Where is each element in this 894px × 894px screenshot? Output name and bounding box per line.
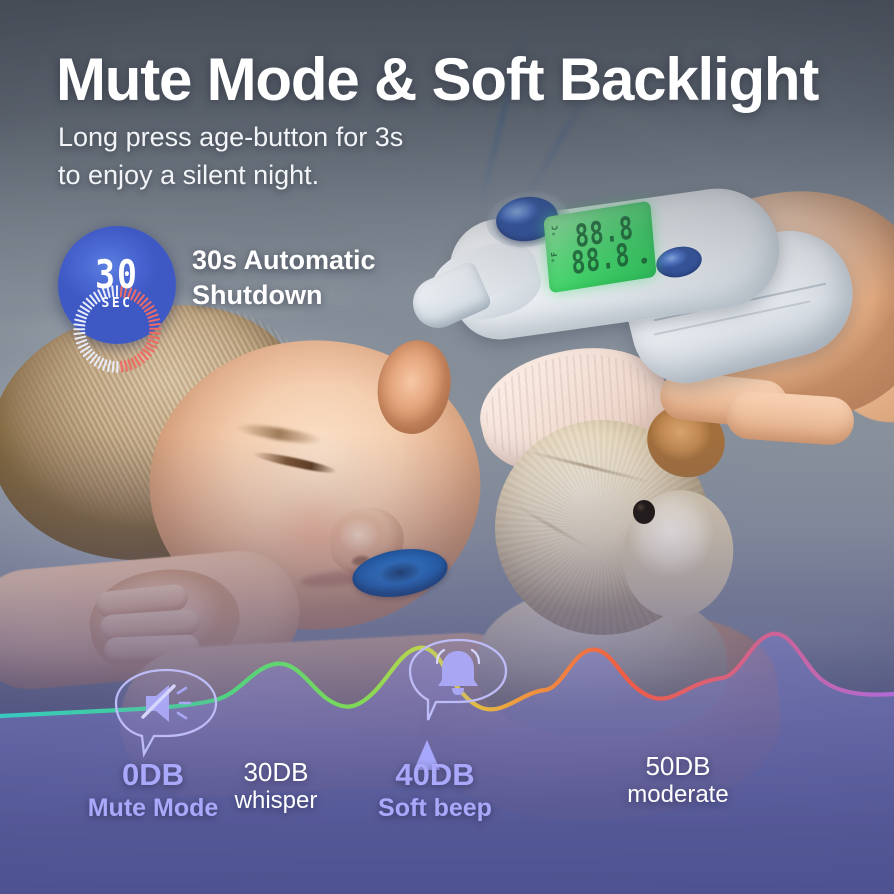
page-subtitle: Long press age-button for 3s to enjoy a …	[58, 118, 578, 195]
bell-bubble	[406, 636, 510, 726]
sound-level-value: 50DB	[608, 752, 748, 781]
subtitle-line-2: to enjoy a silent night.	[58, 156, 578, 194]
timer-dial-tick	[73, 331, 85, 335]
auto-shutdown-timer-badge: 30 SEC	[58, 226, 176, 344]
product-feature-poster: °C °F 88.8 88.8 ● Mute Mode & Soft Backl…	[0, 0, 894, 894]
sound-level-30db: 30DB whisper	[212, 758, 340, 816]
auto-shutdown-label-line-2: Shutdown	[192, 278, 522, 313]
sound-level-50db: 50DB moderate	[608, 752, 748, 810]
page-title: Mute Mode & Soft Backlight	[56, 48, 856, 112]
timer-dial-tick	[149, 323, 161, 327]
mute-speaker-bubble	[112, 666, 220, 758]
mute-speaker-bubble-svg	[112, 666, 220, 758]
sound-level-name: Soft beep	[352, 793, 518, 823]
timer-value: 30	[58, 251, 176, 297]
timer-dial-tick	[149, 328, 161, 330]
sound-level-name: whisper	[212, 787, 340, 816]
sound-level-name: moderate	[608, 781, 748, 810]
timer-unit: SEC	[58, 296, 176, 311]
subtitle-line-1: Long press age-button for 3s	[58, 118, 578, 156]
sound-level-40db: 40DB Soft beep	[352, 758, 518, 823]
timer-dial-tick	[116, 361, 118, 373]
auto-shutdown-label-line-1: 30s Automatic	[192, 243, 522, 278]
timer-dial-tick	[73, 328, 85, 330]
sound-level-value: 30DB	[212, 758, 340, 787]
auto-shutdown-label: 30s Automatic Shutdown	[192, 243, 522, 313]
sound-level-value: 40DB	[352, 758, 518, 793]
timer-dial-tick	[73, 323, 85, 327]
bell-bubble-svg	[406, 636, 510, 726]
